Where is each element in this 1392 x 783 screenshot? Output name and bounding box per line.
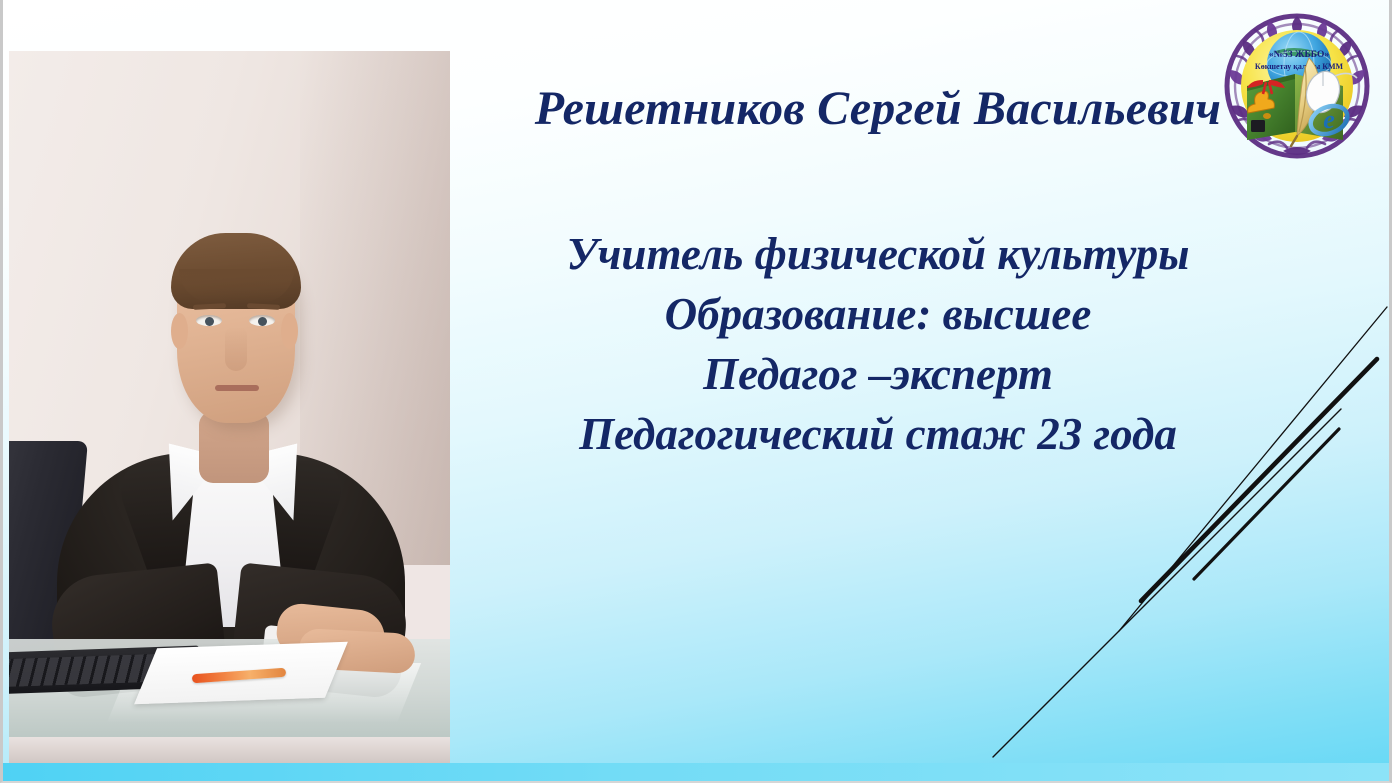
svg-text:e: e <box>1323 105 1335 134</box>
bottom-accent-strip <box>3 763 1389 781</box>
detail-line-position: Учитель физической культуры <box>473 225 1283 285</box>
teacher-name-line-1: Решетников Сергей <box>535 82 962 135</box>
teacher-name: Решетников Сергей Васильевич <box>473 78 1283 139</box>
portrait-photo <box>9 51 450 765</box>
detail-line-experience: Педагогический стаж 23 года <box>473 405 1283 465</box>
emblem-text-line-2: Көкшетау қаласы КММ <box>1255 62 1344 71</box>
mouth <box>215 385 259 391</box>
ear-right <box>281 313 298 349</box>
slide-root: Решетников Сергей Васильевич Учитель физ… <box>0 0 1392 783</box>
teacher-details: Учитель физической культуры Образование:… <box>473 225 1283 464</box>
nose <box>225 327 247 371</box>
pupil-right <box>258 317 267 326</box>
school-emblem-logo: «№53 ЖББО» Көкшетау қаласы КММ <box>1217 8 1377 160</box>
text-column: Решетников Сергей Васильевич Учитель физ… <box>473 78 1283 465</box>
emblem-text-line-1: «№53 ЖББО» <box>1269 50 1329 60</box>
detail-line-category: Педагог –эксперт <box>473 345 1283 405</box>
portrait-photo-content <box>9 51 450 765</box>
pupil-left <box>205 317 214 326</box>
teacher-name-line-2: Васильевич <box>974 82 1221 135</box>
desk-front-panel <box>9 737 450 765</box>
ear-left <box>171 313 188 349</box>
detail-line-education: Образование: высшее <box>473 285 1283 345</box>
